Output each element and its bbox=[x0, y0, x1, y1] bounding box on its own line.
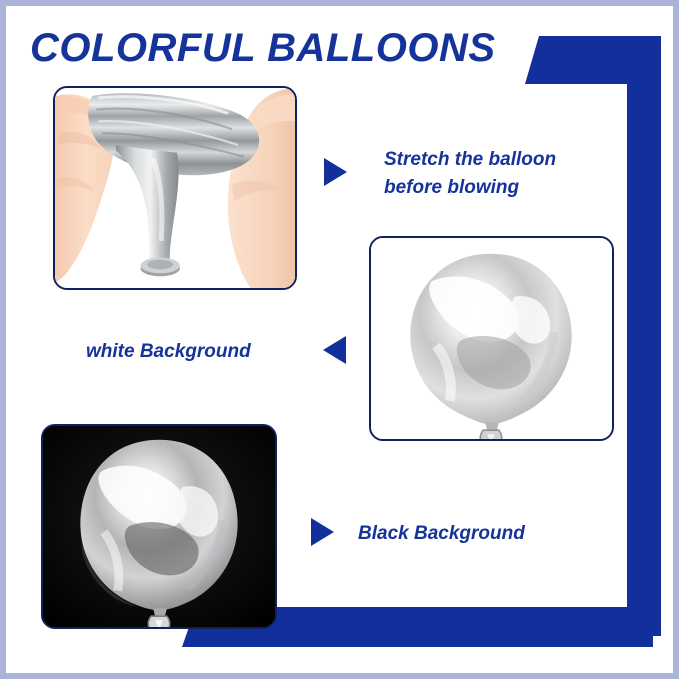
decorative-top-right-bracket bbox=[525, 36, 661, 84]
poster-root: COLORFUL BALLOONS bbox=[0, 0, 679, 679]
triangle-right-icon bbox=[324, 158, 347, 186]
caption-stretch-line1: Stretch the balloon bbox=[384, 146, 604, 174]
triangle-left-icon bbox=[323, 336, 346, 364]
stretch-photo bbox=[53, 86, 297, 290]
caption-black-background: Black Background bbox=[358, 520, 588, 548]
decorative-right-bar bbox=[627, 36, 661, 636]
black-background-photo bbox=[41, 424, 277, 629]
caption-stretch-line2: before blowing bbox=[384, 174, 604, 202]
triangle-right-icon bbox=[311, 518, 334, 546]
caption-stretch: Stretch the balloon before blowing bbox=[384, 146, 604, 201]
page-title: COLORFUL BALLOONS bbox=[30, 26, 496, 70]
black-background-balloon-image bbox=[43, 426, 275, 627]
white-background-photo bbox=[369, 236, 614, 441]
stretch-photo-image bbox=[55, 88, 295, 288]
caption-white-background: white Background bbox=[86, 338, 301, 366]
white-background-balloon-image bbox=[371, 238, 612, 439]
